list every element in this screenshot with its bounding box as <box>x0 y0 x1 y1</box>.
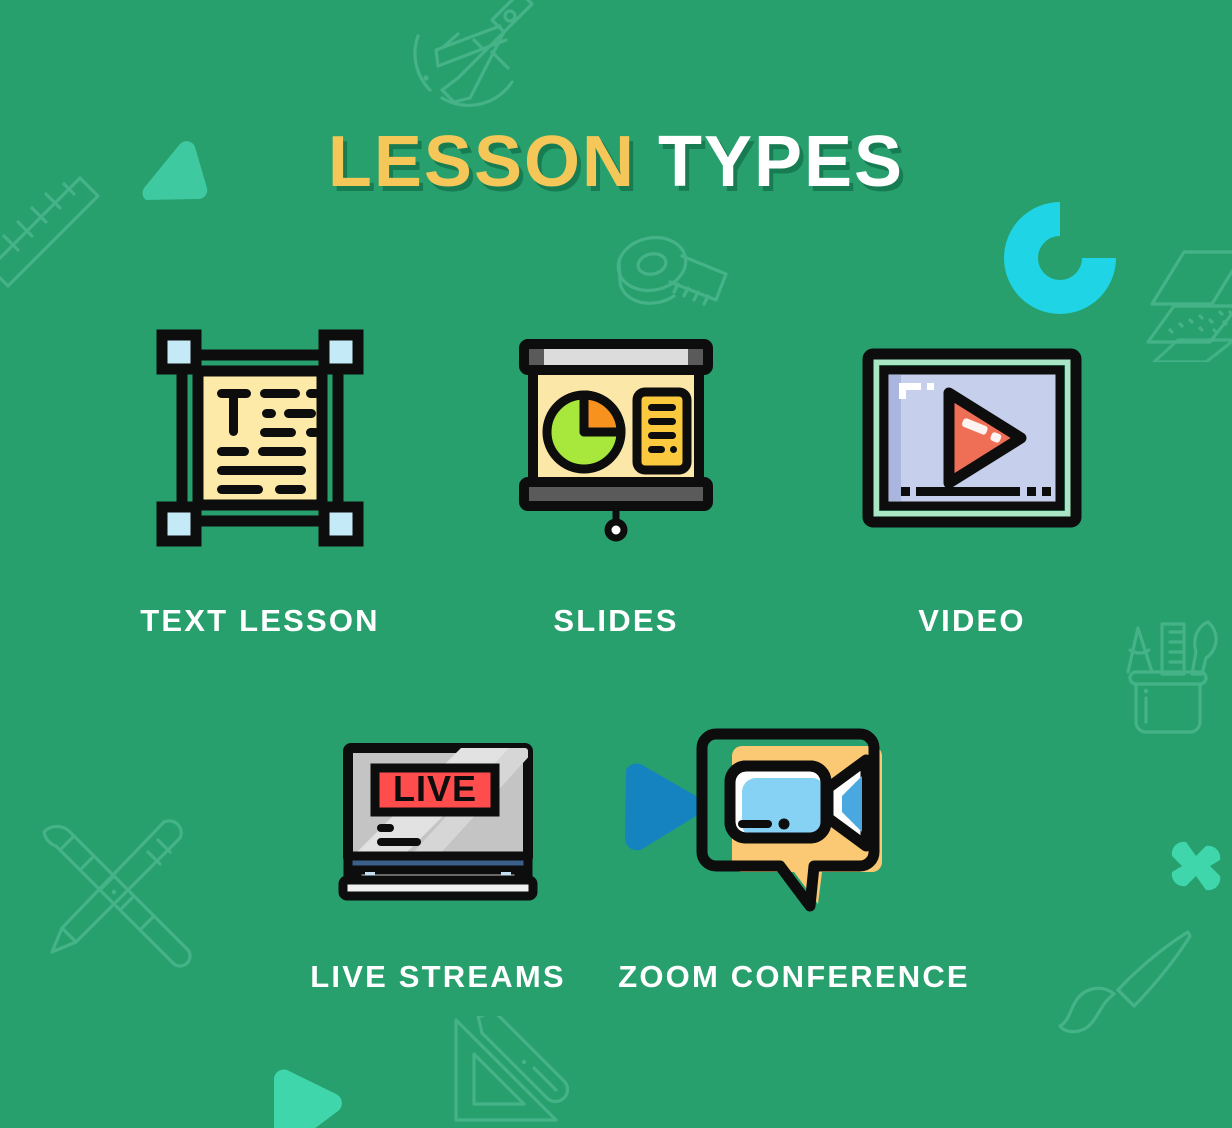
lesson-card-video[interactable]: VIDEO <box>794 330 1150 639</box>
lesson-label-text-lesson: TEXT LESSON <box>140 603 380 639</box>
lesson-label-slides: SLIDES <box>553 603 678 639</box>
lesson-label-live-streams: LIVE STREAMS <box>310 959 565 995</box>
tape-measure-doodle <box>608 230 734 326</box>
lesson-card-live-streams[interactable]: LIVE <box>260 731 616 995</box>
slides-icon-box <box>511 330 721 545</box>
mint-triangle-bottom <box>262 1068 346 1128</box>
live-badge-text: LIVE <box>393 768 477 809</box>
zoom-conference-icon <box>694 728 894 914</box>
lesson-card-text-lesson[interactable]: TEXT LESSON <box>82 330 438 639</box>
lesson-card-zoom-conference[interactable]: ZOOM CONFERENCE <box>616 731 972 995</box>
title-part-types: TYPES <box>658 122 904 202</box>
live-stream-icon: LIVE <box>331 738 545 904</box>
set-square-pencil-doodle <box>440 1016 590 1128</box>
zoom-conference-icon-box <box>694 731 894 911</box>
text-lesson-icon <box>154 327 366 549</box>
lesson-label-zoom-conference: ZOOM CONFERENCE <box>618 959 970 995</box>
lesson-label-video: VIDEO <box>918 603 1025 639</box>
compass-doodle <box>396 0 546 114</box>
title-part-lesson: LESSON <box>328 122 636 202</box>
lesson-row-1: TEXT LESSON <box>0 330 1232 639</box>
cyan-arc-ring <box>1004 202 1116 319</box>
lesson-types-grid: TEXT LESSON <box>0 330 1232 995</box>
video-icon-box <box>861 330 1083 545</box>
page-title: LESSON TYPES <box>0 126 1232 198</box>
video-icon <box>861 347 1083 529</box>
slides-icon <box>511 334 721 542</box>
poster-canvas: LESSON TYPES <box>0 0 1232 1128</box>
lesson-card-slides[interactable]: SLIDES <box>438 330 794 639</box>
text-lesson-icon-box <box>154 330 366 545</box>
live-stream-icon-box: LIVE <box>331 731 545 911</box>
lesson-row-2: LIVE <box>0 731 1232 995</box>
ruler-diagonal-doodle <box>0 176 104 326</box>
